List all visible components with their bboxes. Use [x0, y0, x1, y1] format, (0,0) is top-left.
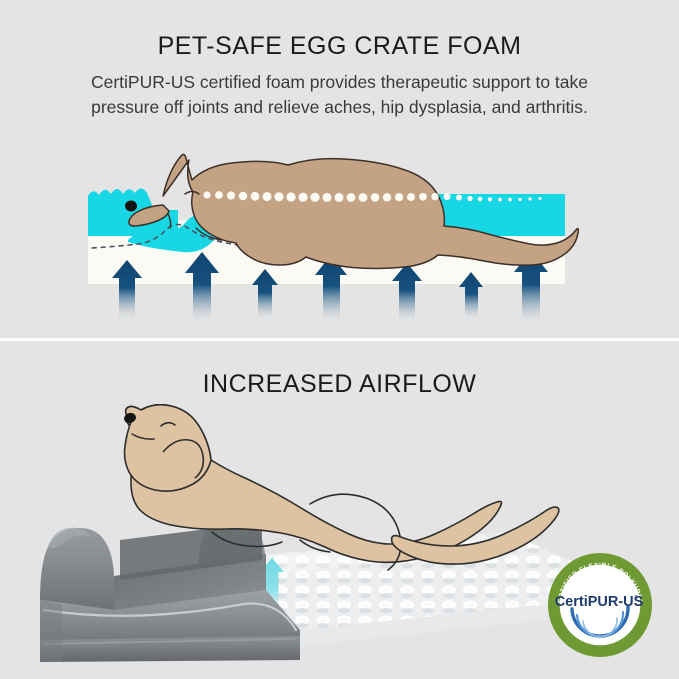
dog-nose — [125, 201, 137, 212]
page-title-bottom: INCREASED AIRFLOW — [0, 370, 679, 399]
body-copy-line-2: pressure off joints and relieve aches, h… — [18, 95, 661, 120]
body-copy-top: CertiPUR-US certified foam provides ther… — [18, 70, 661, 120]
illustration-dog-on-bolster-bed: CONTAINS CERTIFIED FLEXIBLE POLYURETHANE… — [0, 404, 679, 679]
badge-wordmark: CertiPUR-US — [555, 594, 644, 610]
illustration-dog-on-foam-cross-section — [0, 132, 679, 332]
page-title-top: PET-SAFE EGG CRATE FOAM — [0, 32, 679, 61]
body-copy-line-1: CertiPUR-US certified foam provides ther… — [18, 70, 661, 95]
bolster-bed — [40, 512, 300, 662]
infographic-canvas: PET-SAFE EGG CRATE FOAM CertiPUR-US cert… — [0, 0, 679, 679]
badge-trademark-symbol: ® — [634, 594, 638, 601]
section-egg-crate-foam: PET-SAFE EGG CRATE FOAM CertiPUR-US cert… — [0, 0, 679, 338]
section-increased-airflow: INCREASED AIRFLOW — [0, 341, 679, 679]
